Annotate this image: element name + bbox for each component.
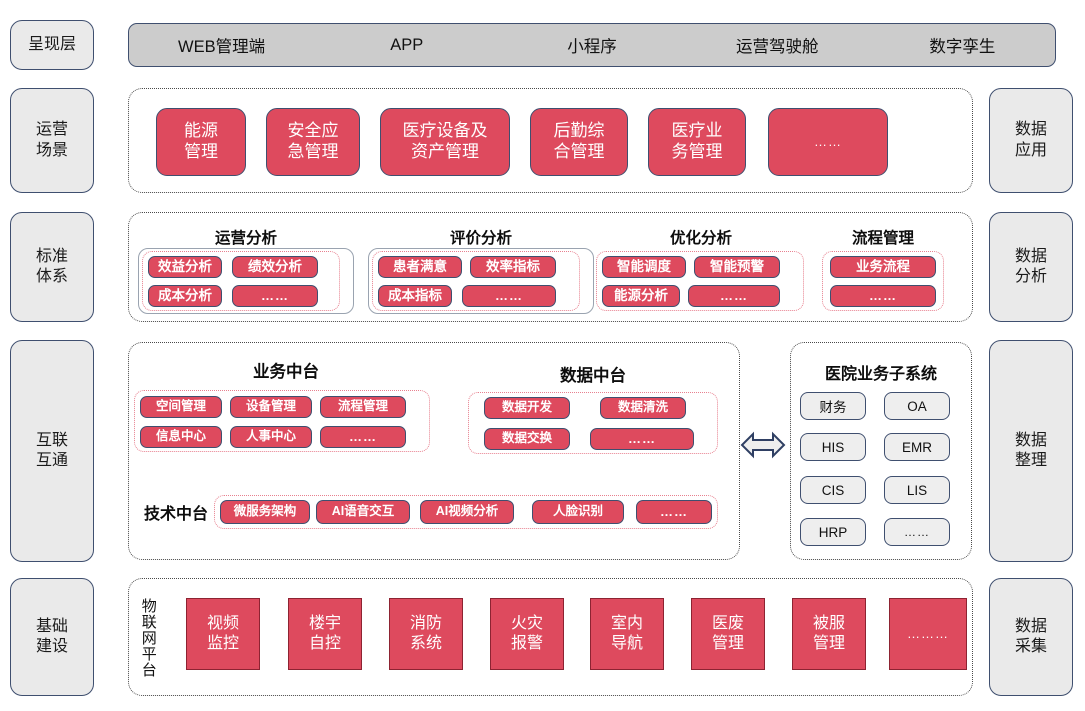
scene-card-label: 后勤综 合管理 [554, 121, 605, 162]
business-item-label: 人事中心 [246, 429, 296, 444]
right-rail-data-application[interactable]: 数据 应用 [989, 88, 1073, 193]
tech-item-ai-voice[interactable]: AI语音交互 [316, 500, 410, 524]
hospital-system-label: 财务 [820, 396, 847, 416]
business-item-label: 流程管理 [338, 399, 388, 414]
standard-item-label: 效益分析 [158, 259, 212, 275]
standard-item-energy-analysis[interactable]: 能源分析 [602, 285, 680, 307]
left-rail-standard-system[interactable]: 标准 体系 [10, 212, 94, 322]
double-arrow-icon [740, 428, 786, 462]
standard-item-label: 患者满意 [393, 259, 447, 275]
standard-item-label: 智能调度 [617, 259, 671, 275]
standard-group-title-optimization-analysis: 优化分析 [596, 226, 806, 248]
data-item-more[interactable]: …… [590, 428, 694, 450]
iot-platform-label: 物联网平台 [140, 588, 156, 688]
standard-item-cost-index[interactable]: 成本指标 [378, 285, 452, 307]
scene-card-label: 医疗设备及 资产管理 [403, 121, 488, 162]
standard-item-patient-satisfaction[interactable]: 患者满意 [378, 256, 462, 278]
tech-item-face-recognition[interactable]: 人脸识别 [532, 500, 624, 524]
data-item-data-exchange[interactable]: 数据交换 [484, 428, 570, 450]
data-item-data-cleaning[interactable]: 数据清洗 [600, 397, 686, 419]
standard-item-label: …… [495, 288, 523, 304]
tech-item-microservice[interactable]: 微服务架构 [220, 500, 310, 524]
architecture-diagram: 呈现层 运营 场景 标准 体系 互联 互通 基础 建设 数据 应用 数据 分析 … [0, 0, 1085, 711]
right-rail-label: 数据 应用 [1015, 120, 1047, 161]
iot-card-label: 火灾 报警 [511, 614, 543, 653]
standard-item-efficiency-index[interactable]: 效率指标 [470, 256, 556, 278]
hospital-system-label: …… [904, 525, 930, 539]
data-platform-title: 数据中台 [470, 362, 716, 386]
hospital-system-emr[interactable]: EMR [884, 433, 950, 461]
standard-item-label: 效率指标 [486, 259, 540, 275]
standard-item-label: …… [261, 288, 289, 304]
iot-card-label: ……… [907, 626, 949, 642]
hospital-system-label: LIS [907, 483, 927, 498]
standard-item-label: 能源分析 [614, 288, 668, 304]
tech-item-label: 人脸识别 [553, 504, 603, 519]
presentation-layer-bar: WEB管理端 APP 小程序 运营驾驶舱 数字孪生 [128, 23, 1056, 67]
business-item-label: 空间管理 [156, 399, 206, 414]
scene-card-more[interactable]: …… [768, 108, 888, 176]
iot-card-label: 被服 管理 [813, 614, 845, 653]
standard-group-title-evaluation-analysis: 评价分析 [368, 226, 594, 248]
scene-card-logistics[interactable]: 后勤综 合管理 [530, 108, 628, 176]
standard-group-title-operation-analysis: 运营分析 [138, 226, 354, 248]
standard-item-label: 成本分析 [158, 288, 212, 304]
hospital-system-more[interactable]: …… [884, 518, 950, 546]
hospital-system-label: EMR [902, 440, 932, 455]
scene-card-medical-equipment-assets[interactable]: 医疗设备及 资产管理 [380, 108, 510, 176]
right-rail-data-analysis[interactable]: 数据 分析 [989, 212, 1073, 322]
left-rail-label: 呈现层 [28, 35, 76, 55]
tech-item-label: AI视频分析 [436, 504, 499, 519]
hospital-systems-title: 医院业务子系统 [790, 360, 972, 384]
business-item-hr-center[interactable]: 人事中心 [230, 426, 312, 448]
scene-card-label: 医疗业 务管理 [672, 121, 723, 162]
iot-card-linen-management[interactable]: 被服 管理 [792, 598, 866, 670]
data-item-label: …… [628, 431, 656, 447]
tech-platform-label: 技术中台 [144, 500, 208, 524]
business-item-label: 信息中心 [156, 429, 206, 444]
standard-item-more-3[interactable]: …… [688, 285, 780, 307]
business-item-more[interactable]: …… [320, 426, 406, 448]
left-rail-interconnect[interactable]: 互联 互通 [10, 340, 94, 562]
presentation-segment-cockpit[interactable]: 运营驾驶舱 [685, 33, 870, 57]
business-item-information-center[interactable]: 信息中心 [140, 426, 222, 448]
standard-item-business-process[interactable]: 业务流程 [830, 256, 936, 278]
standard-item-label: 绩效分析 [248, 259, 302, 275]
right-rail-label: 数据 分析 [1015, 247, 1047, 288]
scene-card-safety-emergency[interactable]: 安全应 急管理 [266, 108, 360, 176]
iot-card-label: 消防 系统 [410, 614, 442, 653]
left-rail-presentation[interactable]: 呈现层 [10, 20, 94, 70]
presentation-segment-miniprogram[interactable]: 小程序 [499, 33, 684, 57]
hospital-system-label: HRP [819, 525, 848, 540]
standard-item-benefit-analysis[interactable]: 效益分析 [148, 256, 222, 278]
business-item-label: 设备管理 [246, 399, 296, 414]
left-rail-label: 基础 建设 [36, 617, 68, 658]
iot-card-video-surveillance[interactable]: 视频 监控 [186, 598, 260, 670]
iot-card-label: 视频 监控 [207, 614, 239, 653]
data-item-data-development[interactable]: 数据开发 [484, 397, 570, 419]
data-item-label: 数据开发 [502, 400, 552, 415]
hospital-system-oa[interactable]: OA [884, 392, 950, 420]
standard-item-label: 成本指标 [388, 288, 442, 304]
tech-item-label: 微服务架构 [234, 504, 297, 519]
hospital-system-label: HIS [822, 440, 845, 455]
tech-item-ai-video[interactable]: AI视频分析 [420, 500, 514, 524]
standard-item-label: …… [869, 288, 897, 304]
scene-card-energy[interactable]: 能源 管理 [156, 108, 246, 176]
iot-card-building-automation[interactable]: 楼宇 自控 [288, 598, 362, 670]
presentation-segment-web[interactable]: WEB管理端 [129, 33, 314, 57]
right-rail-data-organization[interactable]: 数据 整理 [989, 340, 1073, 562]
standard-group-title-process-management: 流程管理 [822, 226, 944, 248]
iot-card-indoor-navigation[interactable]: 室内 导航 [590, 598, 664, 670]
iot-card-fire-alarm[interactable]: 火灾 报警 [490, 598, 564, 670]
left-rail-label: 标准 体系 [36, 247, 68, 288]
presentation-segment-app[interactable]: APP [314, 36, 499, 55]
hospital-system-his[interactable]: HIS [800, 433, 866, 461]
standard-item-more-1[interactable]: …… [232, 285, 318, 307]
scene-card-medical-business[interactable]: 医疗业 务管理 [648, 108, 746, 176]
hospital-system-cis[interactable]: CIS [800, 476, 866, 504]
left-rail-operation-scene[interactable]: 运营 场景 [10, 88, 94, 193]
hospital-system-lis[interactable]: LIS [884, 476, 950, 504]
standard-item-intelligent-alert[interactable]: 智能预警 [694, 256, 780, 278]
hospital-system-label: CIS [822, 483, 845, 498]
standard-item-label: 业务流程 [856, 259, 910, 275]
left-rail-label: 互联 互通 [36, 431, 68, 472]
left-rail-infrastructure[interactable]: 基础 建设 [10, 578, 94, 696]
standard-item-performance-analysis[interactable]: 绩效分析 [232, 256, 318, 278]
standard-item-cost-analysis[interactable]: 成本分析 [148, 285, 222, 307]
iot-card-fire-system[interactable]: 消防 系统 [389, 598, 463, 670]
iot-card-label: 楼宇 自控 [309, 614, 341, 653]
iot-card-label: 医废 管理 [712, 614, 744, 653]
standard-item-more-2[interactable]: …… [462, 285, 556, 307]
business-item-process-management[interactable]: 流程管理 [320, 396, 406, 418]
standard-item-label: 智能预警 [710, 259, 764, 275]
right-rail-label: 数据 采集 [1015, 617, 1047, 658]
hospital-system-hrp[interactable]: HRP [800, 518, 866, 546]
iot-card-label: 室内 导航 [611, 614, 643, 653]
right-rail-data-collection[interactable]: 数据 采集 [989, 578, 1073, 696]
scene-card-label: 安全应 急管理 [288, 121, 339, 162]
iot-card-medical-waste[interactable]: 医废 管理 [691, 598, 765, 670]
left-rail-label: 运营 场景 [36, 120, 68, 161]
business-item-label: …… [349, 429, 377, 445]
right-rail-label: 数据 整理 [1015, 431, 1047, 472]
business-item-equipment-management[interactable]: 设备管理 [230, 396, 312, 418]
scene-card-label: 能源 管理 [184, 121, 218, 162]
presentation-segment-digital-twin[interactable]: 数字孪生 [870, 33, 1055, 57]
tech-item-more[interactable]: …… [636, 500, 712, 524]
scene-card-label: …… [814, 134, 842, 150]
standard-item-label: …… [720, 288, 748, 304]
data-item-label: 数据交换 [502, 431, 552, 446]
hospital-system-finance[interactable]: 财务 [800, 392, 866, 420]
standard-item-intelligent-dispatch[interactable]: 智能调度 [602, 256, 686, 278]
business-platform-title: 业务中台 [136, 358, 436, 382]
tech-item-label: …… [660, 504, 688, 520]
standard-item-more-4[interactable]: …… [830, 285, 936, 307]
hospital-system-label: OA [907, 399, 927, 414]
tech-item-label: AI语音交互 [332, 504, 395, 519]
iot-card-more[interactable]: ……… [889, 598, 967, 670]
data-item-label: 数据清洗 [618, 400, 668, 415]
business-item-space-management[interactable]: 空间管理 [140, 396, 222, 418]
